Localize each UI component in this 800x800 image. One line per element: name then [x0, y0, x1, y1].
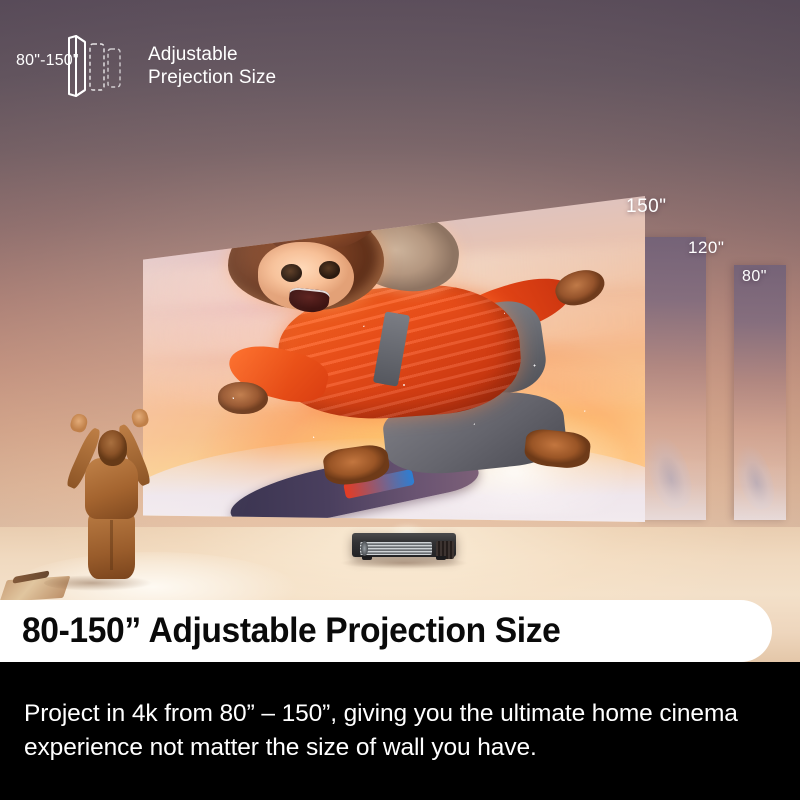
scene-photo: 150" 120" 80" [0, 0, 800, 662]
feature-badge: 80"-150" Adjustable Prejection Size [16, 32, 276, 100]
projector-lens [361, 541, 368, 556]
child-figure [58, 405, 163, 583]
headline-banner: 80-150” Adjustable Projection Size [0, 600, 772, 662]
headline-text: 80-150” Adjustable Projection Size [22, 611, 560, 651]
ghost-screen-120 [644, 237, 706, 520]
size-label-80: 80" [742, 268, 767, 286]
ghost-mist-120 [644, 458, 706, 520]
badge-label: Adjustable Prejection Size [148, 43, 276, 89]
projector-body [352, 533, 456, 557]
child-torso [85, 458, 138, 519]
adjustable-screen-icon: 80"-150" [16, 32, 134, 100]
child-hand-left [68, 412, 88, 433]
ghost-screen-80 [734, 265, 786, 520]
size-label-120: 120" [688, 238, 724, 258]
child-legs [88, 512, 134, 580]
projector-device [352, 527, 456, 561]
projector-shadow [340, 557, 468, 569]
projector-grille [360, 542, 432, 555]
ghost-mist-80 [734, 464, 786, 520]
child-hand-right [130, 407, 150, 428]
badge-size-range: 80"-150" [16, 52, 79, 70]
body-text: Project in 4k from 80” – 150”, giving yo… [24, 697, 776, 766]
description-band: Project in 4k from 80” – 150”, giving yo… [0, 662, 800, 800]
child-head [98, 430, 127, 466]
product-feature-graphic: 150" 120" 80" [0, 0, 800, 800]
size-label-150: 150" [626, 196, 666, 218]
